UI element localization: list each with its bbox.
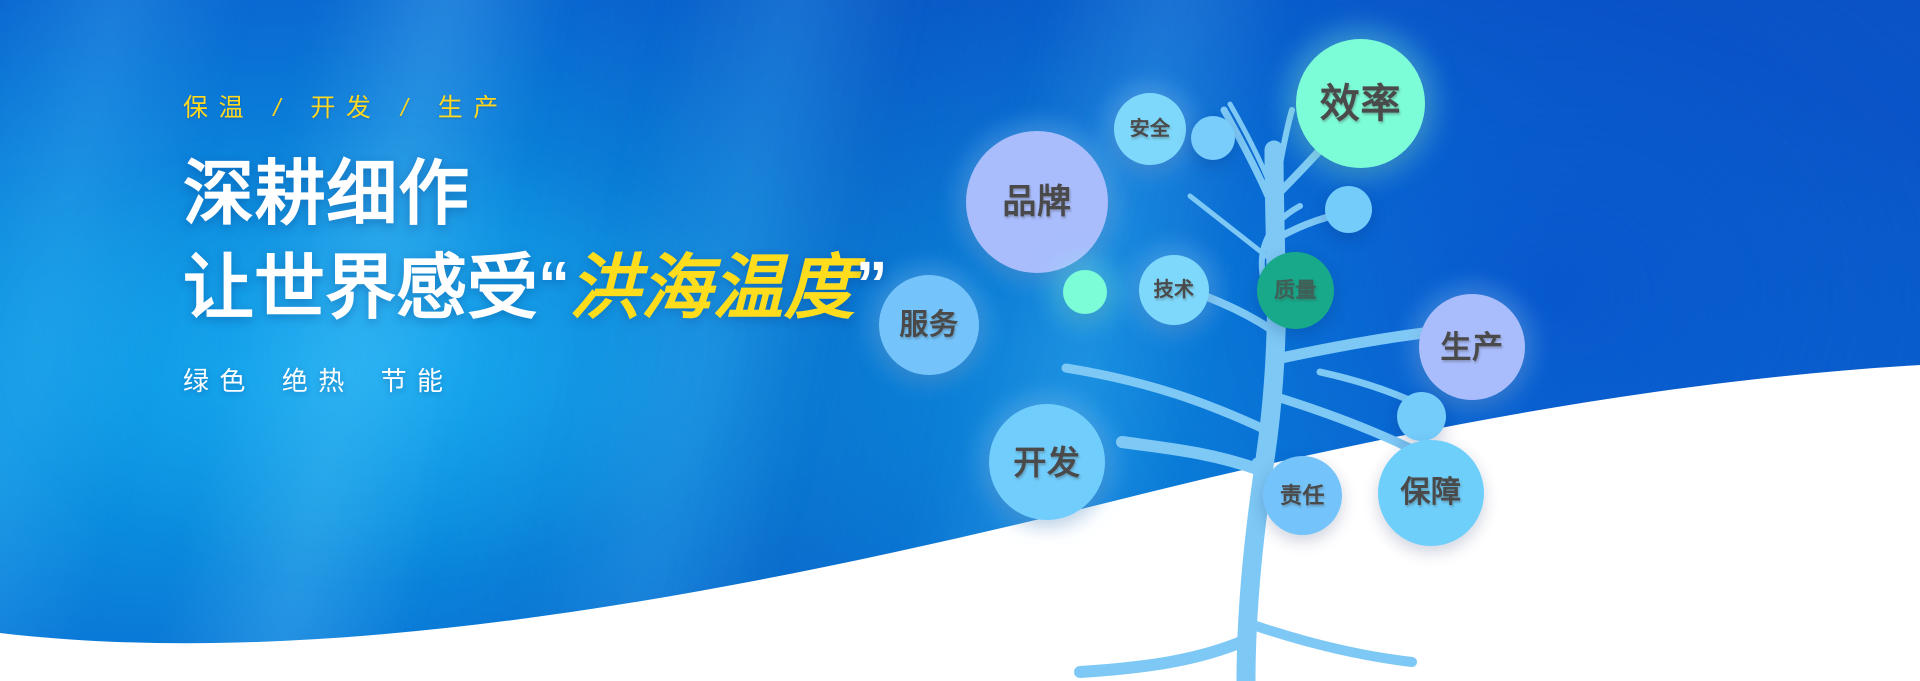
bubble-label: 保障: [1400, 478, 1461, 508]
eyebrow-separator-0: /: [271, 94, 292, 122]
bubble-服务[interactable]: 服务: [879, 275, 979, 375]
bubble-开发[interactable]: 开发: [989, 404, 1105, 520]
tagline-item-0: 绿色: [183, 366, 256, 396]
headline-highlight: 洪海温度: [569, 249, 856, 328]
bubble-label: 效率: [1320, 84, 1402, 124]
bubble-品牌[interactable]: 品牌: [966, 131, 1108, 273]
bubble-责任[interactable]: 责任: [1263, 456, 1342, 535]
eyebrow-separator-1: /: [399, 94, 420, 122]
hero-banner: 保温 / 开发 / 生产 深耕细作 让世界感受“洪海温度” 绿色绝热节能 品牌安…: [0, 0, 1920, 681]
bubble-生产[interactable]: 生产: [1419, 294, 1525, 400]
bubble-安全[interactable]: 安全: [1114, 93, 1186, 165]
bubble-decorative-7[interactable]: [1063, 270, 1107, 314]
bubble-保障[interactable]: 保障: [1378, 440, 1484, 546]
hero-copy: 保温 / 开发 / 生产 深耕细作 让世界感受“洪海温度” 绿色绝热节能: [183, 96, 943, 394]
headline-prefix: 让世界感受: [183, 249, 538, 328]
tagline: 绿色绝热节能: [183, 368, 943, 394]
bubble-label: 服务: [899, 311, 958, 340]
tagline-item-1: 绝热: [282, 366, 355, 396]
eyebrow-item-1: 开发: [310, 94, 381, 122]
headline-line-2: 让世界感受“洪海温度”: [183, 253, 943, 325]
eyebrow-item-0: 保温: [183, 94, 254, 122]
headline-line-1: 深耕细作: [183, 159, 943, 231]
bubble-效率[interactable]: 效率: [1296, 39, 1425, 168]
bubble-label: 质量: [1274, 280, 1317, 301]
bubble-label: 生产: [1440, 332, 1503, 363]
bubble-label: 安全: [1130, 119, 1171, 139]
bubble-质量[interactable]: 质量: [1257, 252, 1334, 329]
bubble-label: 开发: [1013, 446, 1080, 479]
bubble-decorative-10[interactable]: [1397, 392, 1446, 441]
eyebrow-item-2: 生产: [438, 94, 509, 122]
tagline-item-2: 节能: [381, 366, 454, 396]
quote-open: “: [538, 248, 569, 320]
bubble-label: 品牌: [1002, 185, 1071, 219]
bubble-decorative-2[interactable]: [1191, 116, 1235, 160]
bubble-decorative-4[interactable]: [1325, 186, 1372, 233]
eyebrow-keywords: 保温 / 开发 / 生产: [183, 96, 943, 121]
bubble-技术[interactable]: 技术: [1139, 255, 1209, 325]
bubble-label: 责任: [1280, 485, 1325, 507]
bubble-label: 技术: [1154, 280, 1195, 300]
